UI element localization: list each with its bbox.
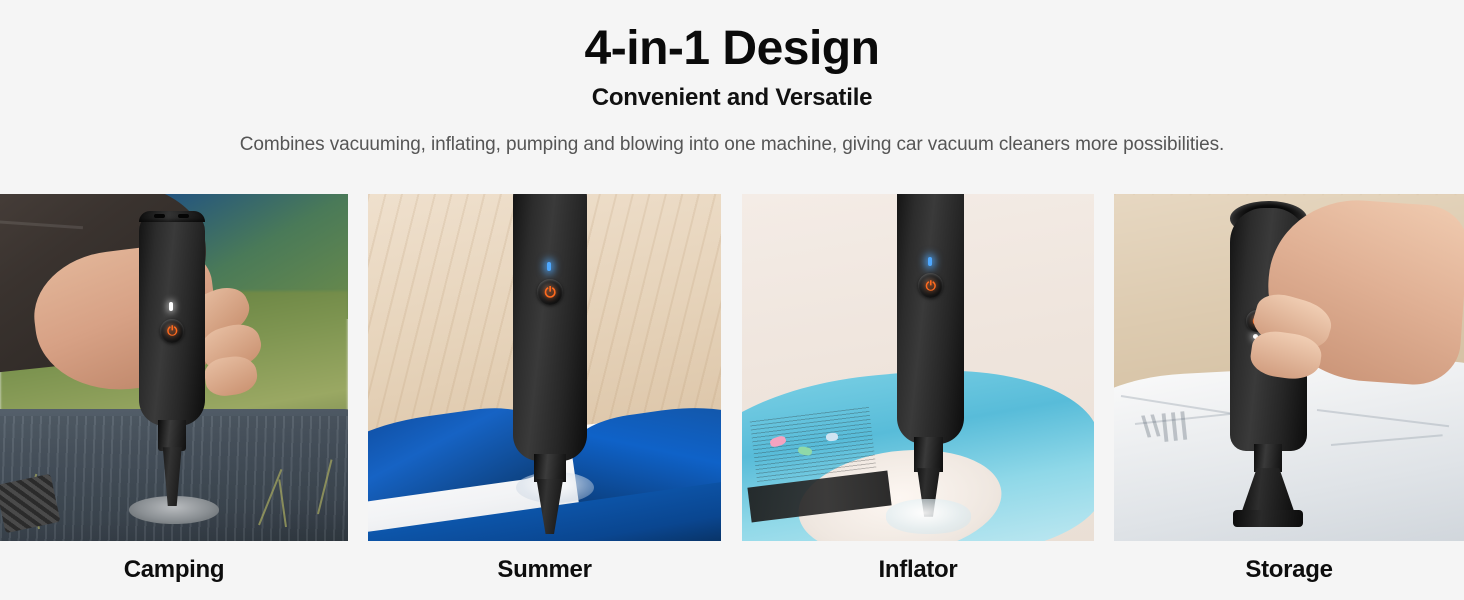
led-indicator <box>547 262 551 271</box>
caption-summer: Summer <box>368 552 721 588</box>
inflator-photo: ⏻ <box>742 194 1094 541</box>
vacuum-device-body: ⏻ <box>897 194 964 444</box>
use-case-panel-inflator[interactable]: ⏻ <box>742 194 1094 541</box>
device-nozzle-neck <box>914 437 942 472</box>
sleeve-seam <box>0 214 83 229</box>
caption-inflator: Inflator <box>742 552 1094 588</box>
vacuum-device-body: ⏻ <box>139 211 205 426</box>
panel-captions: Camping Summer Inflator Storage <box>0 552 1464 600</box>
storage-photo: \\||| ⏻ <box>1114 194 1464 541</box>
use-case-panel-camping[interactable]: ⏻ <box>0 194 348 541</box>
device-nozzle-neck <box>1254 444 1282 472</box>
page-title: 4-in-1 Design <box>0 22 1464 76</box>
device-base-plate <box>1233 510 1303 527</box>
device-vent <box>154 214 165 218</box>
led-indicator <box>928 257 932 266</box>
led-indicator <box>169 302 173 311</box>
device-top-cap <box>139 211 205 222</box>
camping-photo: ⏻ <box>0 194 348 541</box>
device-nozzle-neck <box>534 454 566 482</box>
bag-print: \\||| <box>1140 407 1190 446</box>
caption-camping: Camping <box>0 552 348 588</box>
summer-photo: ⏻ <box>368 194 721 541</box>
use-case-panel-summer[interactable]: ⏻ <box>368 194 721 541</box>
power-button[interactable]: ⏻ <box>160 319 184 343</box>
header: 4-in-1 Design Convenient and Versatile C… <box>0 0 1464 156</box>
use-case-gallery: ⏻ ⏻ <box>0 194 1464 541</box>
power-button[interactable]: ⏻ <box>537 279 563 305</box>
vacuum-device-body: ⏻ <box>513 194 587 461</box>
caption-storage: Storage <box>1114 552 1464 588</box>
device-vent <box>178 214 189 218</box>
power-button[interactable]: ⏻ <box>918 273 943 298</box>
device-nozzle-neck <box>158 420 186 451</box>
page-subtitle: Convenient and Versatile <box>0 84 1464 112</box>
swim-ring-clear-valve <box>886 499 970 534</box>
power-icon: ⏻ <box>167 324 177 337</box>
use-case-panel-storage[interactable]: \\||| ⏻ <box>1114 194 1464 541</box>
power-icon: ⏻ <box>926 279 936 292</box>
power-icon: ⏻ <box>545 285 556 299</box>
page-description: Combines vacuuming, inflating, pumping a… <box>0 134 1464 156</box>
